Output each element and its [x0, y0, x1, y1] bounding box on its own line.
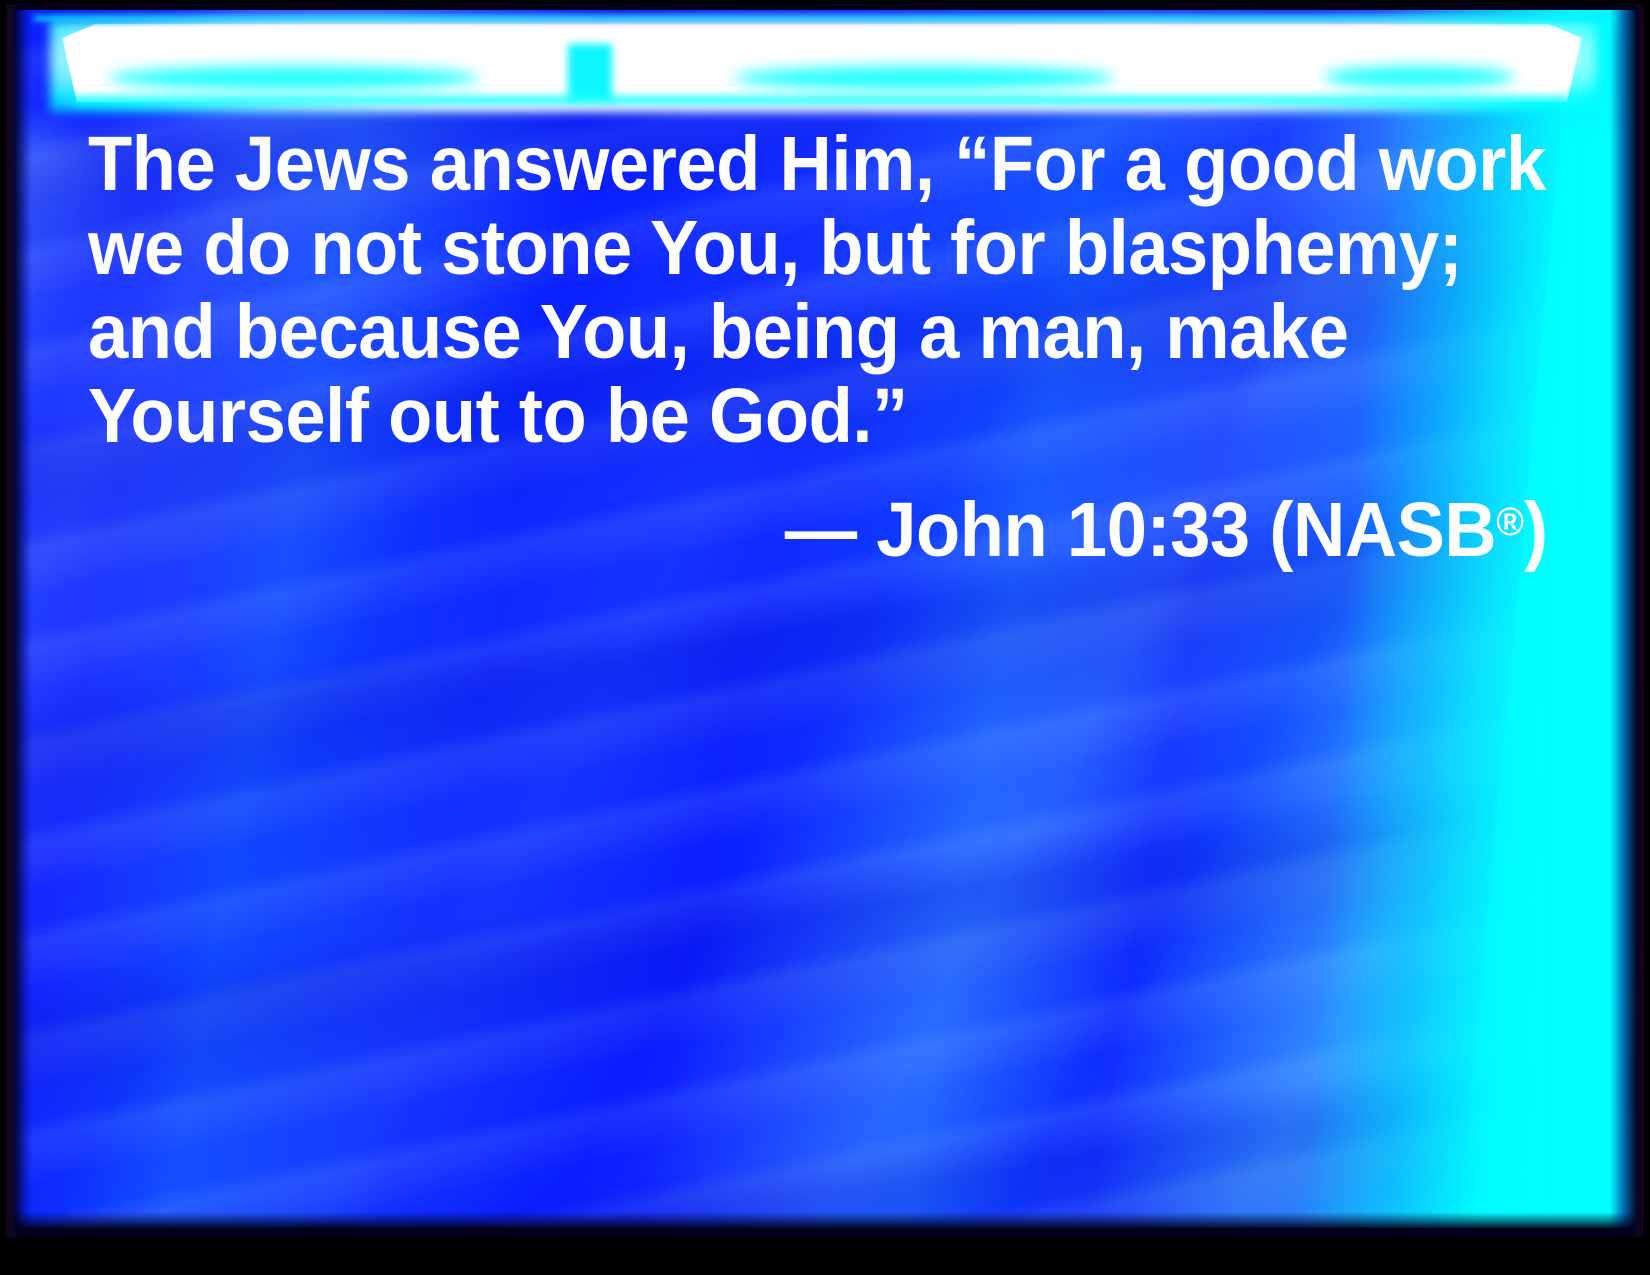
- background-bottom-edge-shadow: [14, 1212, 1636, 1228]
- citation-translation: NASB: [1293, 487, 1496, 573]
- verse-text-block: The Jews answered Him, “For a good work …: [88, 122, 1558, 572]
- verse-line-3: and because You, being a man, make: [88, 290, 1470, 374]
- verse-line-1: The Jews answered Him, “For a good work: [88, 122, 1470, 206]
- registered-trademark-icon: ®: [1497, 500, 1525, 544]
- background-right-edge-shadow: [1610, 10, 1636, 1228]
- top-glow-notch: [568, 44, 612, 100]
- verse-citation: — John 10:33 (NASB®): [785, 480, 1548, 572]
- verse-line-2: we do not stone You, but for blasphemy;: [88, 206, 1470, 290]
- background-left-edge-shadow: [14, 10, 32, 1228]
- citation-book: John: [877, 487, 1048, 573]
- citation-reference: 10:33: [1067, 487, 1250, 573]
- top-glow-banner: [62, 24, 1582, 102]
- slide-canvas: The Jews answered Him, “For a good work …: [14, 10, 1636, 1228]
- verse-slide: The Jews answered Him, “For a good work …: [0, 0, 1650, 1275]
- citation-close-paren: ): [1524, 487, 1548, 573]
- top-glow-hairline: [34, 16, 1616, 21]
- citation-open-paren: (: [1270, 487, 1294, 573]
- top-glow-puff-center: [734, 66, 1114, 90]
- top-glow-puff-left: [109, 66, 479, 90]
- citation-dash: —: [785, 487, 857, 573]
- top-glow-puff-right: [1324, 66, 1514, 88]
- top-glow-underline: [74, 96, 1569, 104]
- verse-citation-row: — John 10:33 (NASB®): [88, 480, 1558, 572]
- verse-line-4: Yourself out to be God.”: [88, 374, 1470, 458]
